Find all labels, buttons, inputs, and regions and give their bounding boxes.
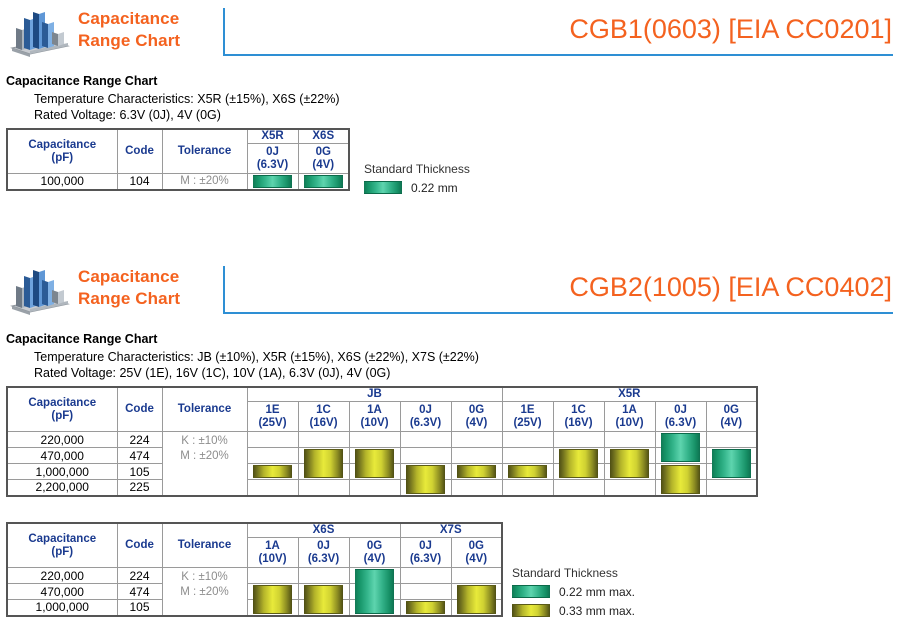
cell-bar (247, 174, 298, 190)
cell-bar (247, 568, 298, 584)
cell-bar (451, 448, 502, 464)
section-heading-line1: Capacitance (78, 8, 180, 30)
cell-bar (247, 448, 298, 464)
header-voltage-6: 1C(16V) (553, 402, 604, 432)
tolerance-note: K : ±10% (163, 434, 247, 449)
bar-chart-icon (8, 264, 72, 316)
legend-swatch-teal-icon (364, 181, 402, 194)
cell-bar (349, 568, 400, 584)
legend-swatch-yellow-icon (512, 604, 550, 617)
legend-title: Standard Thickness (364, 162, 470, 176)
header-voltage-2: 1A(10V) (349, 402, 400, 432)
header-voltage-0: 0J (6.3V) (247, 144, 298, 174)
cell-bar (400, 480, 451, 496)
model-title-cgb2: CGB2(1005) [EIA CC0402] (569, 272, 892, 303)
cell-bar (400, 568, 451, 584)
header-voltage-7: 1A(10V) (604, 402, 655, 432)
subtitle-cgb2: Capacitance Range Chart (6, 332, 157, 346)
header-voltage-0: 1E(25V) (247, 402, 298, 432)
header-voltage-9: 0G(4V) (706, 402, 757, 432)
rated-voltage-cgb1: Rated Voltage: 6.3V (0J), 4V (0G) (34, 108, 221, 122)
section-heading-line2: Range Chart (78, 288, 180, 310)
table-row: 1,000,000105 (7, 600, 502, 616)
header-voltage-4: 0G(4V) (451, 402, 502, 432)
cell-bar (655, 480, 706, 496)
cell-capacitance: 2,200,000 (7, 480, 117, 496)
cell-bar (451, 584, 502, 600)
header-voltage-1: 0J(6.3V) (298, 538, 349, 568)
cell-code: 224 (117, 568, 162, 584)
legend-item: 0.22 mm (364, 179, 470, 196)
cell-bar (247, 600, 298, 616)
cell-bar (706, 432, 757, 448)
legend-cgb2: Standard Thickness 0.22 mm max. 0.33 mm … (512, 566, 635, 621)
cell-bar (706, 448, 757, 464)
cell-bar (502, 464, 553, 480)
cell-bar (247, 584, 298, 600)
header-code: Code (117, 387, 162, 432)
section-heading-line1: Capacitance (78, 266, 180, 288)
cell-bar (604, 464, 655, 480)
header-voltage-5: 1E(25V) (502, 402, 553, 432)
cell-bar (400, 464, 451, 480)
cell-bar (298, 584, 349, 600)
cell-bar (349, 584, 400, 600)
cell-bar (349, 464, 400, 480)
temp-characteristics-cgb2: Temperature Characteristics: JB (±10%), … (34, 350, 479, 364)
header-code: Code (117, 129, 162, 174)
cell-bar (247, 464, 298, 480)
header-capacitance: Capacitance (pF) (7, 129, 117, 174)
legend-item: 0.33 mm max. (512, 602, 635, 619)
cell-code: 105 (117, 464, 162, 480)
header-voltage-1: 1C(16V) (298, 402, 349, 432)
header-tolerance: Tolerance (162, 387, 247, 432)
cell-bar (247, 480, 298, 496)
header-tolerance: Tolerance (162, 129, 247, 174)
header-group-jb: JB (247, 387, 502, 402)
cell-bar (502, 432, 553, 448)
cell-bar (553, 464, 604, 480)
cell-bar (400, 432, 451, 448)
cell-bar (451, 464, 502, 480)
table-row: 220,000224K : ±10%M : ±20% (7, 432, 757, 448)
section-heading-cgb1: Capacitance Range Chart (78, 8, 180, 52)
cell-capacitance: 1,000,000 (7, 464, 117, 480)
legend-title: Standard Thickness (512, 566, 635, 580)
cell-capacitance: 470,000 (7, 584, 117, 600)
header-vertical-rule (223, 8, 225, 56)
header-code: Code (117, 523, 162, 568)
table-row: 470,000474 (7, 448, 757, 464)
header-group-x6s: X6S (247, 523, 400, 538)
section-heading-line2: Range Chart (78, 30, 180, 52)
cell-bar (349, 600, 400, 616)
cell-bar (553, 480, 604, 496)
cell-bar (604, 448, 655, 464)
cell-bar (655, 448, 706, 464)
header-group-x5r: X5R (247, 129, 298, 144)
legend-label: 0.22 mm (411, 181, 458, 195)
header-vertical-rule (223, 266, 225, 314)
cell-bar (451, 568, 502, 584)
section-header-cgb2: Capacitance Range Chart CGB2(1005) [EIA … (0, 258, 900, 320)
cell-tolerance: M : ±20% (162, 174, 247, 190)
header-voltage-2: 0G(4V) (349, 538, 400, 568)
cell-bar (298, 600, 349, 616)
cell-bar (502, 480, 553, 496)
cell-bar (298, 432, 349, 448)
bar-chart-icon (8, 6, 72, 58)
header-horizontal-rule (223, 312, 893, 314)
cell-bar (706, 464, 757, 480)
header-group-x7s: X7S (400, 523, 502, 538)
cell-bar (706, 480, 757, 496)
cell-tolerance: K : ±10%M : ±20% (162, 568, 247, 616)
cell-bar (298, 464, 349, 480)
table-row: 1,000,000105 (7, 464, 757, 480)
legend-item: 0.22 mm max. (512, 583, 635, 600)
capacitance-table-cgb2-main: Capacitance (pF) Code Tolerance JB X5R 1… (6, 386, 758, 497)
header-horizontal-rule (223, 54, 893, 56)
tolerance-note: K : ±10% (163, 570, 247, 585)
cell-bar (655, 464, 706, 480)
header-capacitance: Capacitance (pF) (7, 523, 117, 568)
section-heading-cgb2: Capacitance Range Chart (78, 266, 180, 310)
cell-bar (298, 568, 349, 584)
header-voltage-3: 0J(6.3V) (400, 538, 451, 568)
cell-code: 105 (117, 600, 162, 616)
capacitance-range-chart-page: Capacitance Range Chart CGB1(0603) [EIA … (0, 0, 900, 630)
tolerance-note: M : ±20% (163, 449, 247, 464)
cell-code: 225 (117, 480, 162, 496)
legend-swatch-teal-icon (512, 585, 550, 598)
cell-bar (655, 432, 706, 448)
header-voltage-0: 1A(10V) (247, 538, 298, 568)
legend-cgb1: Standard Thickness 0.22 mm (364, 162, 470, 198)
header-group-x6s: X6S (298, 129, 349, 144)
cell-bar (349, 480, 400, 496)
cell-bar (298, 480, 349, 496)
cell-bar (400, 584, 451, 600)
cell-capacitance: 220,000 (7, 568, 117, 584)
table-row: 2,200,000225 (7, 480, 757, 496)
cell-bar (349, 432, 400, 448)
header-voltage-4: 0G(4V) (451, 538, 502, 568)
table-row: 470,000474 (7, 584, 502, 600)
cell-bar (451, 600, 502, 616)
header-voltage-8: 0J(6.3V) (655, 402, 706, 432)
tolerance-note: M : ±20% (163, 585, 247, 600)
table-row: 220,000224K : ±10%M : ±20% (7, 568, 502, 584)
cell-bar (553, 448, 604, 464)
temp-characteristics-cgb1: Temperature Characteristics: X5R (±15%),… (34, 92, 340, 106)
cell-capacitance: 470,000 (7, 448, 117, 464)
cell-bar (451, 480, 502, 496)
header-voltage-3: 0J(6.3V) (400, 402, 451, 432)
header-capacitance: Capacitance (pF) (7, 387, 117, 432)
section-header-cgb1: Capacitance Range Chart CGB1(0603) [EIA … (0, 0, 900, 62)
capacitance-table-cgb1: Capacitance (pF) Code Tolerance X5R X6S … (6, 128, 350, 191)
cell-bar (502, 448, 553, 464)
cell-tolerance: K : ±10%M : ±20% (162, 432, 247, 496)
cell-code: 224 (117, 432, 162, 448)
cell-code: 474 (117, 448, 162, 464)
cell-code: 104 (117, 174, 162, 190)
cell-bar (604, 480, 655, 496)
table-row: 100,000 104 M : ±20% (7, 174, 349, 190)
cell-bar (349, 448, 400, 464)
capacitance-table-cgb2-sub: Capacitance (pF) Code Tolerance X6S X7S … (6, 522, 503, 617)
rated-voltage-cgb2: Rated Voltage: 25V (1E), 16V (1C), 10V (… (34, 366, 390, 380)
cell-capacitance: 1,000,000 (7, 600, 117, 616)
cell-bar (604, 432, 655, 448)
legend-label: 0.33 mm max. (559, 604, 635, 618)
cell-bar (247, 432, 298, 448)
cell-bar (451, 432, 502, 448)
subtitle-cgb1: Capacitance Range Chart (6, 74, 157, 88)
cell-code: 474 (117, 584, 162, 600)
cell-bar (298, 448, 349, 464)
legend-label: 0.22 mm max. (559, 585, 635, 599)
cell-bar (298, 174, 349, 190)
cell-capacitance: 220,000 (7, 432, 117, 448)
cell-bar (400, 448, 451, 464)
cell-capacitance: 100,000 (7, 174, 117, 190)
header-tolerance: Tolerance (162, 523, 247, 568)
header-group-x5r: X5R (502, 387, 757, 402)
cell-bar (553, 432, 604, 448)
header-voltage-1: 0G (4V) (298, 144, 349, 174)
cell-bar (400, 600, 451, 616)
model-title-cgb1: CGB1(0603) [EIA CC0201] (569, 14, 892, 45)
